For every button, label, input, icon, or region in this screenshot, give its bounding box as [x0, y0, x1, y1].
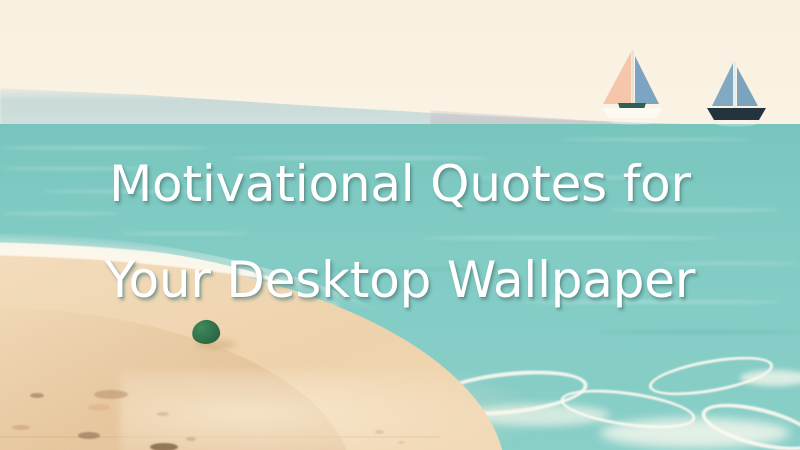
water-streak — [470, 176, 690, 179]
sand-pebble — [398, 441, 405, 444]
sand-pebble — [186, 437, 196, 441]
water-streak — [610, 208, 780, 212]
sand-pebble — [157, 412, 169, 416]
sand-highlight — [120, 370, 550, 450]
sand-pebble — [375, 430, 384, 434]
water-streak — [300, 268, 480, 271]
water-streak — [120, 232, 250, 235]
sand-pebble — [30, 393, 44, 398]
water-streak — [40, 190, 220, 193]
water-streak — [660, 262, 800, 265]
water-streak — [560, 138, 750, 141]
wallpaper-canvas: Motivational Quotes for Your Desktop Wal… — [0, 0, 800, 450]
sand-pebble — [12, 425, 30, 430]
sailboat-left-icon — [596, 48, 668, 128]
sand-pebble — [88, 404, 110, 411]
sand-pebble — [78, 432, 100, 439]
water-streak — [520, 300, 780, 304]
sand-pebble — [94, 390, 128, 399]
sailboat-right — [702, 58, 772, 128]
water-streak — [0, 146, 210, 150]
water-streak — [230, 156, 490, 160]
water-streak — [0, 212, 120, 215]
foam-blob — [740, 370, 800, 386]
sailboat-right-icon — [702, 58, 772, 128]
sand-pebble — [150, 443, 178, 450]
water-streak — [420, 236, 720, 240]
foam-blob — [600, 418, 790, 448]
water-streak — [600, 330, 800, 334]
water-streak — [0, 167, 150, 170]
sailboat-left — [596, 48, 668, 128]
